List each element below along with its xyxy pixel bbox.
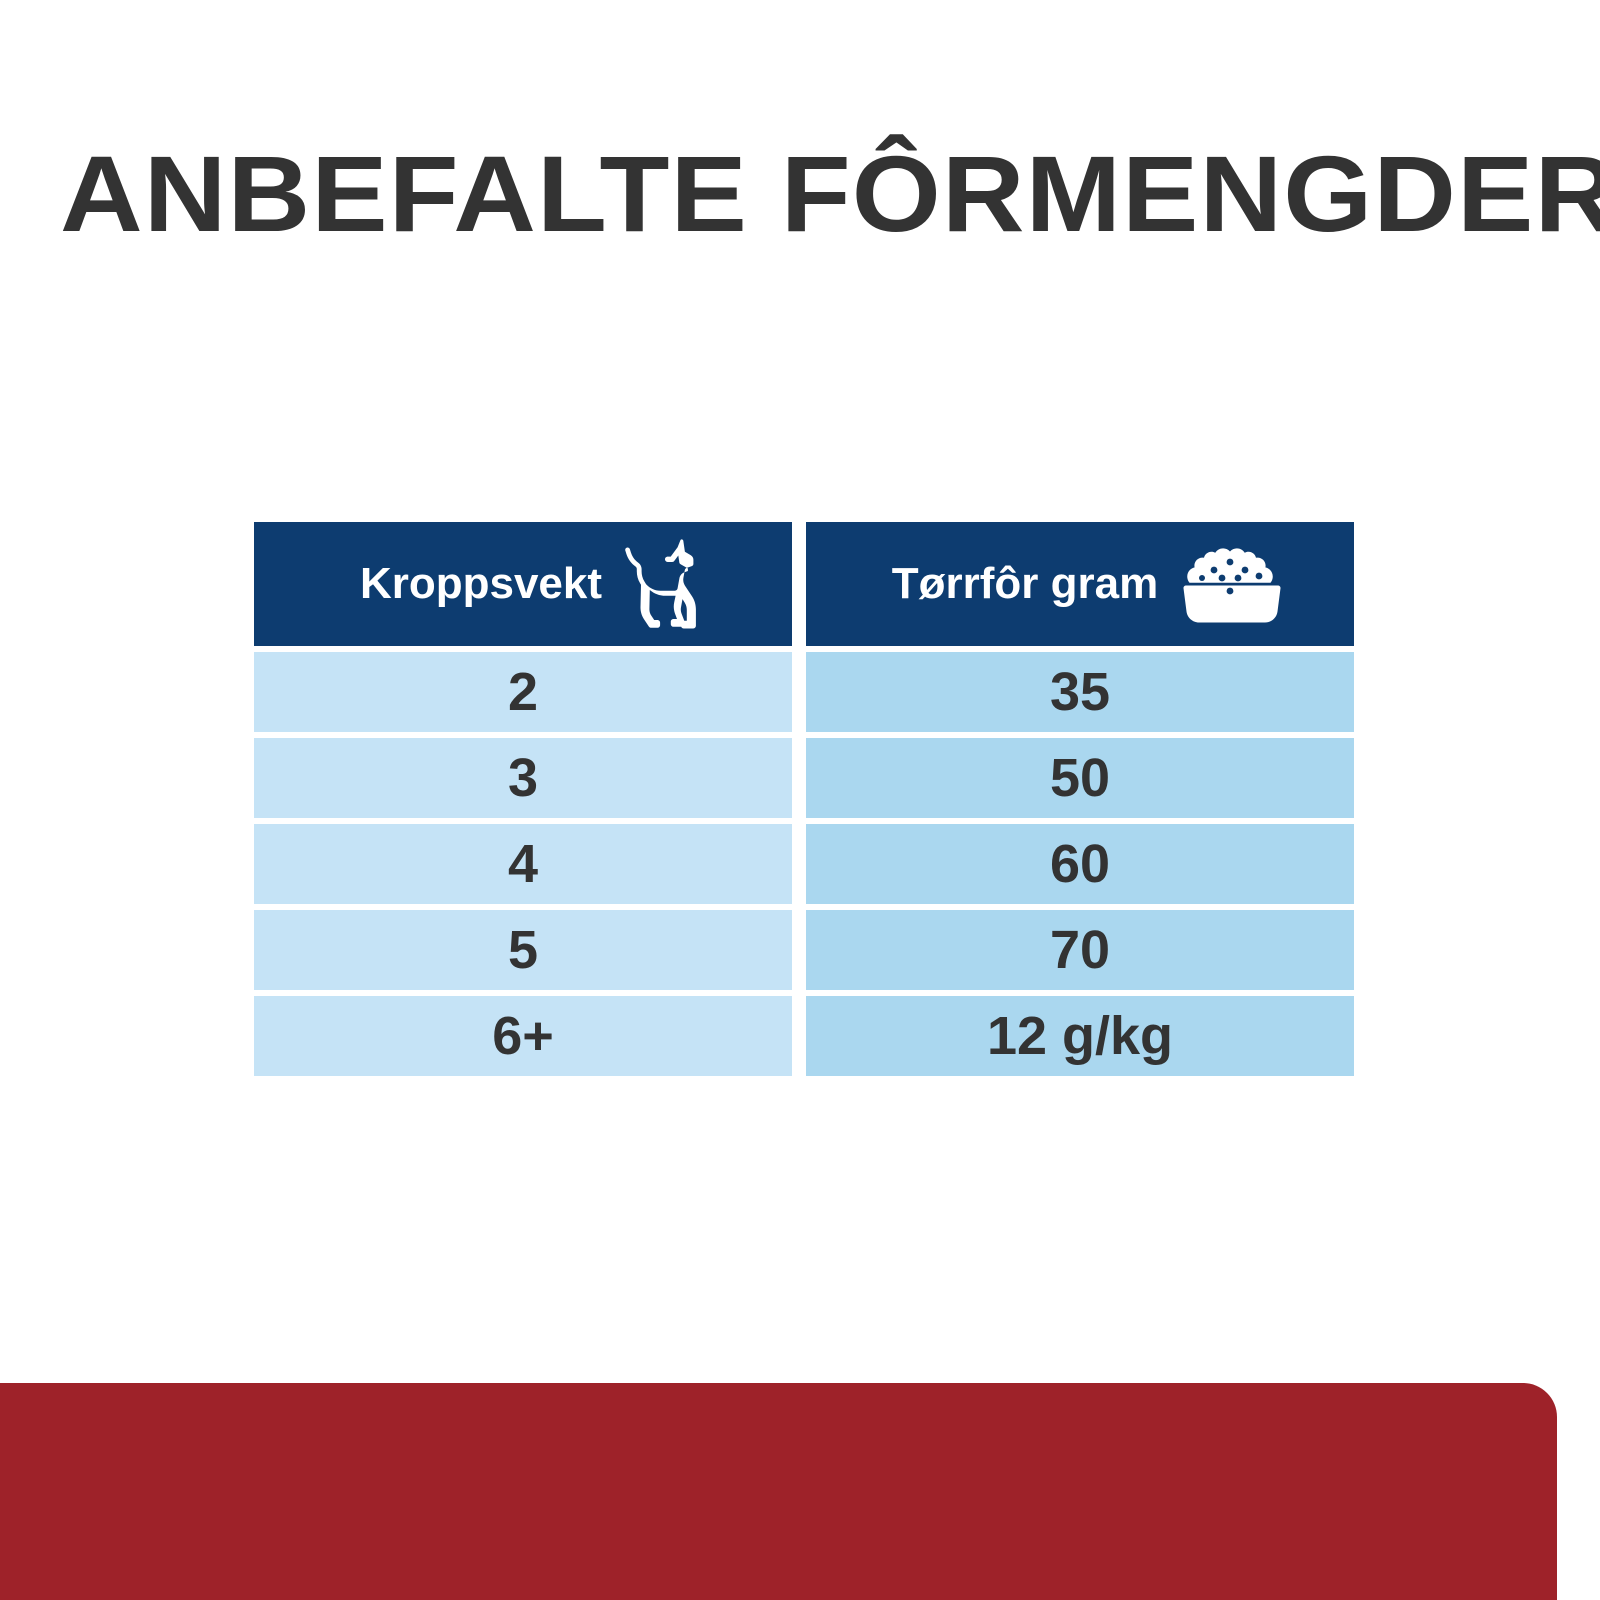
column-header-bodyweight: Kroppsvekt: [254, 522, 792, 646]
table-row: 5 70: [254, 910, 1354, 990]
cell-bodyweight: 4: [254, 824, 792, 904]
cell-dry-food: 70: [806, 910, 1354, 990]
cell-dry-food: 60: [806, 824, 1354, 904]
column-header-dry-food: Tørrfôr gram: [806, 522, 1354, 646]
cat-icon: [622, 536, 700, 632]
table-row: 4 60: [254, 824, 1354, 904]
table-row: 2 35: [254, 652, 1354, 732]
table-row: 3 50: [254, 738, 1354, 818]
dog-bowl-icon: [1178, 545, 1282, 623]
cell-dry-food: 50: [806, 738, 1354, 818]
bottom-red-banner: [0, 1383, 1557, 1600]
cell-bodyweight: 2: [254, 652, 792, 732]
cell-bodyweight: 5: [254, 910, 792, 990]
table-row: 6+ 12 g/kg: [254, 996, 1354, 1076]
cell-bodyweight: 6+: [254, 996, 792, 1076]
cell-dry-food: 12 g/kg: [806, 996, 1354, 1076]
table-header-row: Kroppsvekt Tørrfôr gram: [254, 522, 1354, 646]
cell-dry-food: 35: [806, 652, 1354, 732]
column-header-dry-food-label: Tørrfôr gram: [892, 562, 1158, 606]
column-header-bodyweight-label: Kroppsvekt: [360, 562, 602, 606]
feeding-guide-table: Kroppsvekt Tørrfôr gram: [254, 522, 1354, 1082]
cell-bodyweight: 3: [254, 738, 792, 818]
page-title: ANBEFALTE FÔRMENGDER: [60, 138, 1600, 250]
